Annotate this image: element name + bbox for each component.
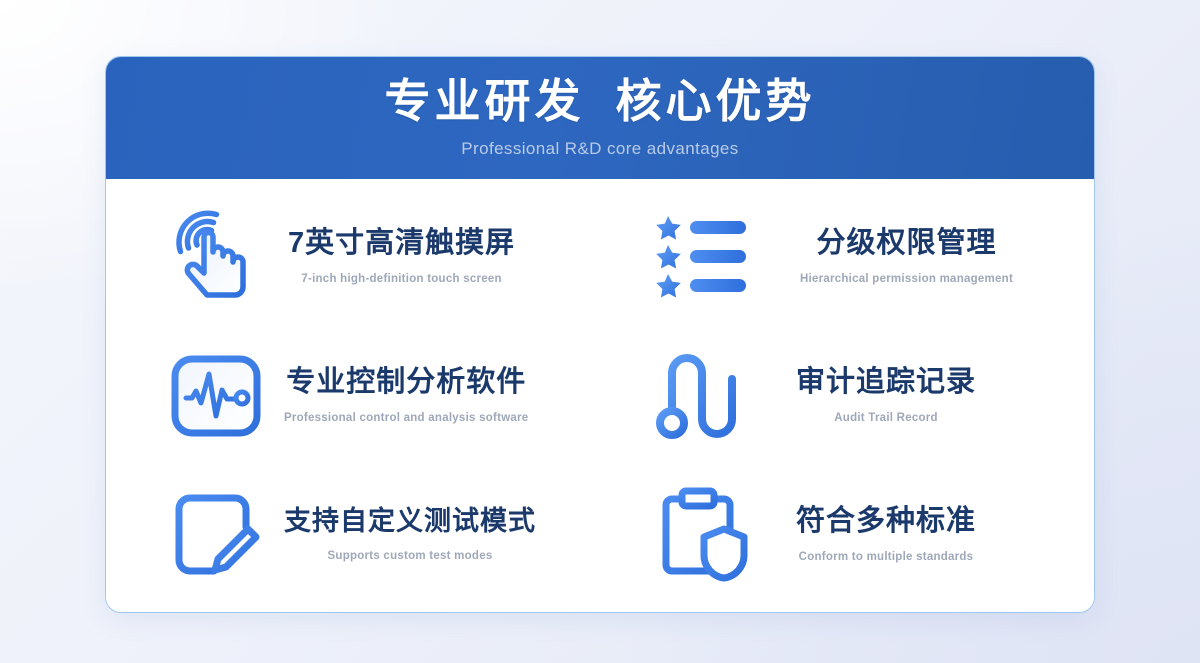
feature-item-standards: 符合多种标准 Conform to multiple standards [622, 465, 1080, 604]
feature-title: 7英寸高清触摸屏 [288, 228, 515, 260]
features-grid: 7英寸高清触摸屏 7-inch high-definition touch sc… [106, 179, 1094, 613]
advantages-card: 专业研发 核心优势 Professional R&D core advantag… [105, 56, 1095, 613]
feature-item-software: 专业控制分析软件 Professional control and analys… [164, 326, 622, 465]
feature-subtitle: Hierarchical permission management [800, 273, 1013, 285]
feature-text: 专业控制分析软件 Professional control and analys… [284, 367, 528, 425]
feature-subtitle: Conform to multiple standards [799, 551, 974, 563]
feature-text: 审计追踪记录 Audit Trail Record [796, 367, 976, 425]
feature-item-custom-test: 支持自定义测试模式 Supports custom test modes [164, 465, 622, 604]
feature-subtitle: Professional control and analysis softwa… [284, 412, 528, 424]
feature-text: 符合多种标准 Conform to multiple standards [796, 506, 976, 564]
page-subtitle: Professional R&D core advantages [461, 139, 738, 159]
feature-subtitle: 7-inch high-definition touch screen [301, 273, 501, 285]
page-title: 专业研发 核心优势 [385, 73, 816, 131]
feature-item-touch-screen: 7英寸高清触摸屏 7-inch high-definition touch sc… [164, 187, 622, 326]
feature-subtitle: Audit Trail Record [834, 412, 938, 424]
feature-text: 7英寸高清触摸屏 7-inch high-definition touch sc… [288, 228, 515, 286]
feature-title: 支持自定义测试模式 [284, 507, 536, 537]
feature-item-audit-trail: 审计追踪记录 Audit Trail Record [622, 326, 1080, 465]
document-edit-icon [164, 483, 268, 587]
feature-title: 审计追踪记录 [796, 367, 976, 399]
feature-title: 符合多种标准 [796, 506, 976, 538]
star-list-icon [650, 205, 754, 309]
feature-text: 支持自定义测试模式 Supports custom test modes [284, 507, 536, 563]
touch-tap-icon [164, 205, 268, 309]
feature-subtitle: Supports custom test modes [328, 550, 493, 562]
feature-title: 分级权限管理 [817, 228, 997, 260]
clipboard-shield-icon [650, 483, 754, 587]
card-header: 专业研发 核心优势 Professional R&D core advantag… [106, 57, 1094, 179]
waveform-monitor-icon [164, 344, 268, 448]
feature-title: 专业控制分析软件 [286, 367, 526, 399]
feature-item-permission: 分级权限管理 Hierarchical permission managemen… [622, 187, 1080, 326]
feature-text: 分级权限管理 Hierarchical permission managemen… [800, 228, 1013, 286]
audit-trail-path-icon [650, 344, 754, 448]
